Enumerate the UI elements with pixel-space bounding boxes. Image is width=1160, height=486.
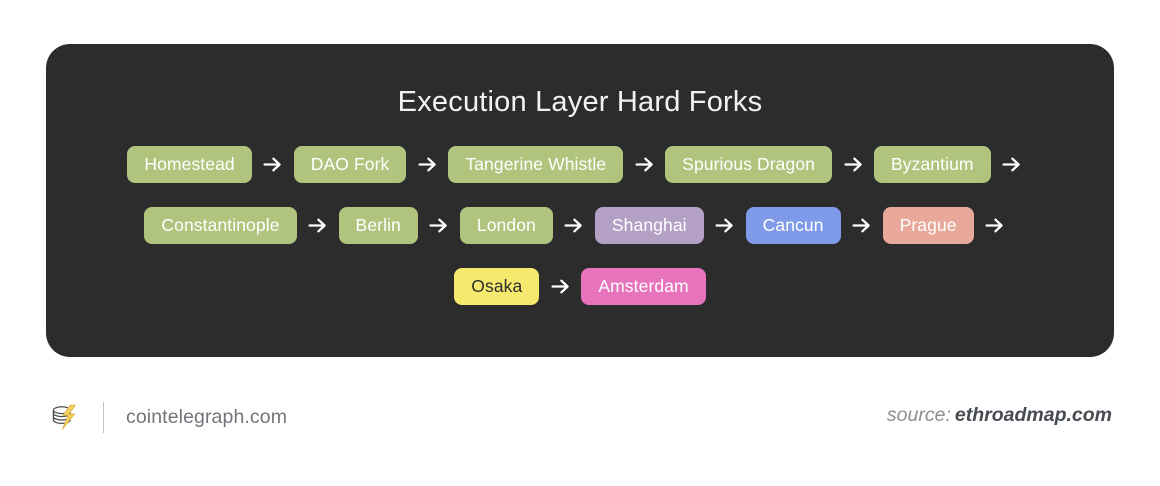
arrow-right-icon: [623, 156, 665, 173]
arrow-right-icon: [974, 217, 1016, 234]
execution-layer-hard-forks-card: Execution Layer Hard Forks HomesteadDAO …: [46, 44, 1114, 357]
fork-badge[interactable]: Byzantium: [874, 146, 991, 183]
fork-item: Shanghai: [595, 207, 746, 244]
fork-row: HomesteadDAO ForkTangerine WhistleSpurio…: [127, 146, 1032, 183]
fork-item: Prague: [883, 207, 1016, 244]
fork-badge[interactable]: Homestead: [127, 146, 251, 183]
brand-name: cointelegraph.com: [126, 406, 287, 429]
fork-item: Constantinople: [144, 207, 338, 244]
fork-badge[interactable]: Tangerine Whistle: [448, 146, 623, 183]
arrow-right-icon: [252, 156, 294, 173]
arrow-right-icon: [841, 217, 883, 234]
fork-item: Osaka: [454, 268, 581, 305]
divider: [103, 402, 104, 433]
fork-badge[interactable]: London: [460, 207, 553, 244]
fork-badge[interactable]: Osaka: [454, 268, 539, 305]
fork-item: Cancun: [746, 207, 883, 244]
arrow-right-icon: [553, 217, 595, 234]
arrow-right-icon: [297, 217, 339, 234]
fork-badge[interactable]: Spurious Dragon: [665, 146, 832, 183]
hard-fork-flow: HomesteadDAO ForkTangerine WhistleSpurio…: [46, 146, 1114, 305]
fork-item: London: [460, 207, 595, 244]
fork-item: Spurious Dragon: [665, 146, 874, 183]
fork-badge[interactable]: Constantinople: [144, 207, 296, 244]
fork-item: Tangerine Whistle: [448, 146, 665, 183]
arrow-right-icon: [991, 156, 1033, 173]
fork-item: DAO Fork: [294, 146, 449, 183]
fork-badge[interactable]: Berlin: [339, 207, 418, 244]
page-title: Execution Layer Hard Forks: [46, 44, 1114, 119]
fork-item: Berlin: [339, 207, 460, 244]
source-attribution: source:ethroadmap.com: [887, 404, 1112, 427]
arrow-right-icon: [704, 217, 746, 234]
footer: cointelegraph.com source:ethroadmap.com: [0, 357, 1160, 486]
fork-badge[interactable]: DAO Fork: [294, 146, 407, 183]
arrow-right-icon: [539, 278, 581, 295]
fork-badge[interactable]: Cancun: [746, 207, 841, 244]
fork-badge[interactable]: Amsterdam: [581, 268, 705, 305]
fork-row: ConstantinopleBerlinLondonShanghaiCancun…: [144, 207, 1015, 244]
arrow-right-icon: [418, 217, 460, 234]
source-prefix: source:: [887, 404, 951, 426]
fork-badge[interactable]: Shanghai: [595, 207, 704, 244]
cointelegraph-coins-bolt-logo-icon: [47, 399, 83, 435]
arrow-right-icon: [406, 156, 448, 173]
fork-item: Homestead: [127, 146, 293, 183]
fork-item: Amsterdam: [581, 268, 705, 305]
source-site: ethroadmap.com: [955, 404, 1112, 426]
fork-badge[interactable]: Prague: [883, 207, 974, 244]
brand: cointelegraph.com: [47, 399, 287, 435]
fork-row: OsakaAmsterdam: [454, 268, 705, 305]
arrow-right-icon: [832, 156, 874, 173]
fork-item: Byzantium: [874, 146, 1033, 183]
